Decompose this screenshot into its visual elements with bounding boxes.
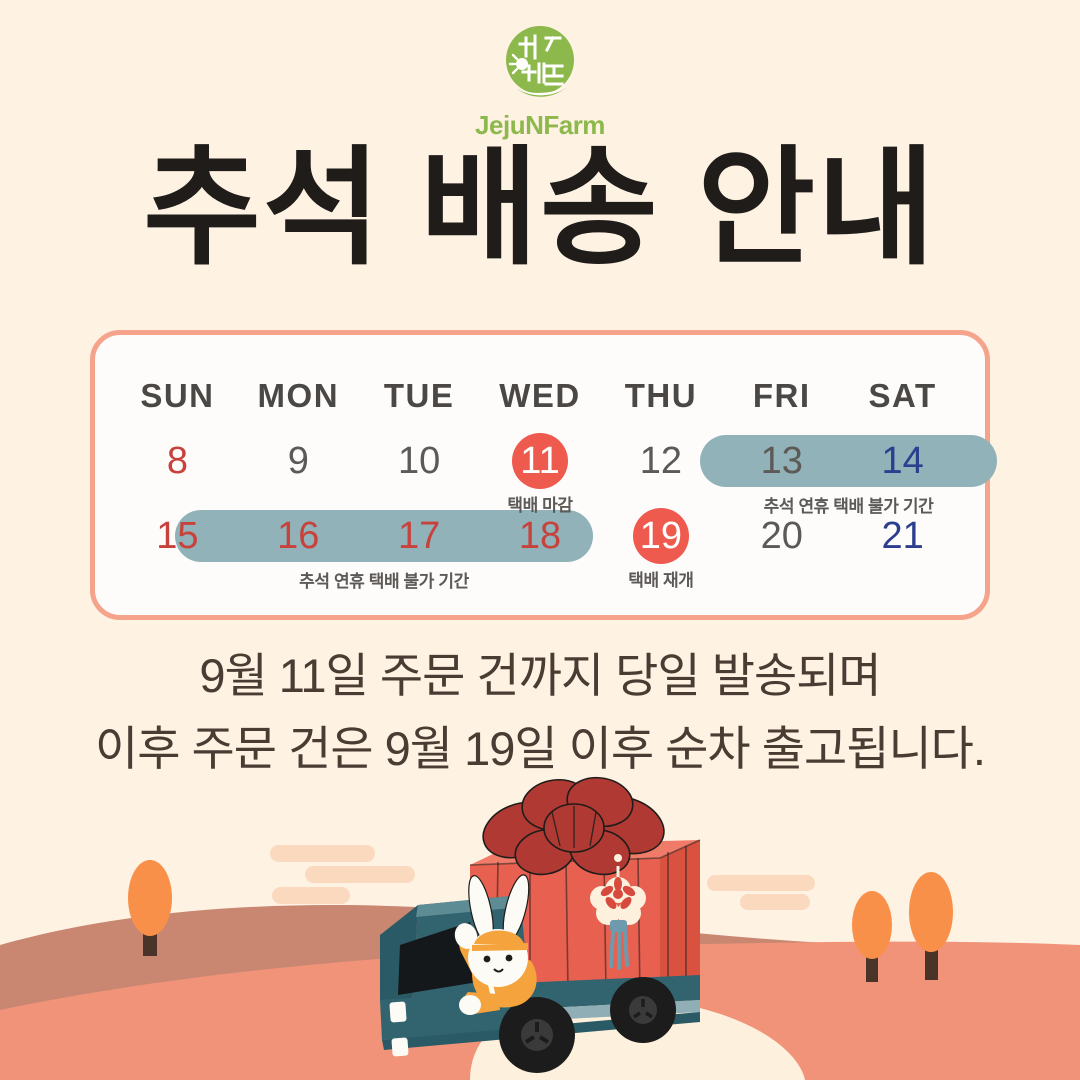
date-number: 14	[875, 433, 931, 489]
date-badge-cutoff: 11	[512, 433, 568, 489]
jeju-n-farm-circle-logo-icon	[496, 22, 584, 110]
date-number: 13	[754, 433, 810, 489]
truck-wheel-rear	[610, 977, 676, 1043]
notice-line-2: 이후 주문 건은 9월 19일 이후 순차 출고됩니다.	[0, 713, 1080, 786]
brand-wordmark: JejuNFarm	[475, 112, 605, 138]
date-number: 12	[633, 433, 689, 489]
brand-logo: JejuNFarm	[0, 22, 1080, 138]
date-number: 20	[754, 508, 810, 564]
calendar-cell-10[interactable]: 10	[359, 433, 480, 516]
day-header-thu: THU	[600, 377, 721, 415]
day-header-sat: SAT	[842, 377, 963, 415]
delivery-calendar-card: SUN MON TUE WED THU FRI SAT 8 9 1	[90, 330, 990, 620]
truck-wheel-front	[499, 997, 575, 1073]
calendar-cell-19[interactable]: 19 택배 재개	[600, 508, 721, 591]
date-number: 9	[270, 433, 326, 489]
calendar-cell-9[interactable]: 9	[238, 433, 359, 516]
calendar-cell-20[interactable]: 20	[721, 508, 842, 591]
poster-canvas: JejuNFarm 추석 배송 안내 SUN MON TUE WED THU F…	[0, 0, 1080, 1080]
day-header-sun: SUN	[117, 377, 238, 415]
calendar-grid: SUN MON TUE WED THU FRI SAT 8 9 1	[95, 335, 985, 615]
date-number: 8	[149, 433, 205, 489]
calendar-cell-21[interactable]: 21	[842, 508, 963, 591]
notice-line-1: 9월 11일 주문 건까지 당일 발송되며	[0, 640, 1080, 713]
day-header-fri: FRI	[721, 377, 842, 415]
delivery-notice-text: 9월 11일 주문 건까지 당일 발송되며 이후 주문 건은 9월 19일 이후…	[0, 640, 1080, 786]
date-number: 15	[149, 508, 205, 564]
calendar-day-headers: SUN MON TUE WED THU FRI SAT	[117, 377, 963, 415]
calendar-cell-8[interactable]: 8	[117, 433, 238, 516]
page-title: 추석 배송 안내	[0, 142, 1080, 276]
date-number: 10	[391, 433, 447, 489]
day-header-wed: WED	[480, 377, 601, 415]
date-number: 21	[875, 508, 931, 564]
date-number: 17	[391, 508, 447, 564]
date-badge-resume: 19	[633, 508, 689, 564]
holiday-label-bottom: 추석 연휴 택배 불가 기간	[175, 567, 593, 592]
resume-note: 택배 재개	[628, 566, 693, 591]
calendar-cell-11[interactable]: 11 택배 마감	[480, 433, 601, 516]
date-number: 16	[270, 508, 326, 564]
day-header-mon: MON	[238, 377, 359, 415]
date-number: 18	[512, 508, 568, 564]
day-header-tue: TUE	[359, 377, 480, 415]
